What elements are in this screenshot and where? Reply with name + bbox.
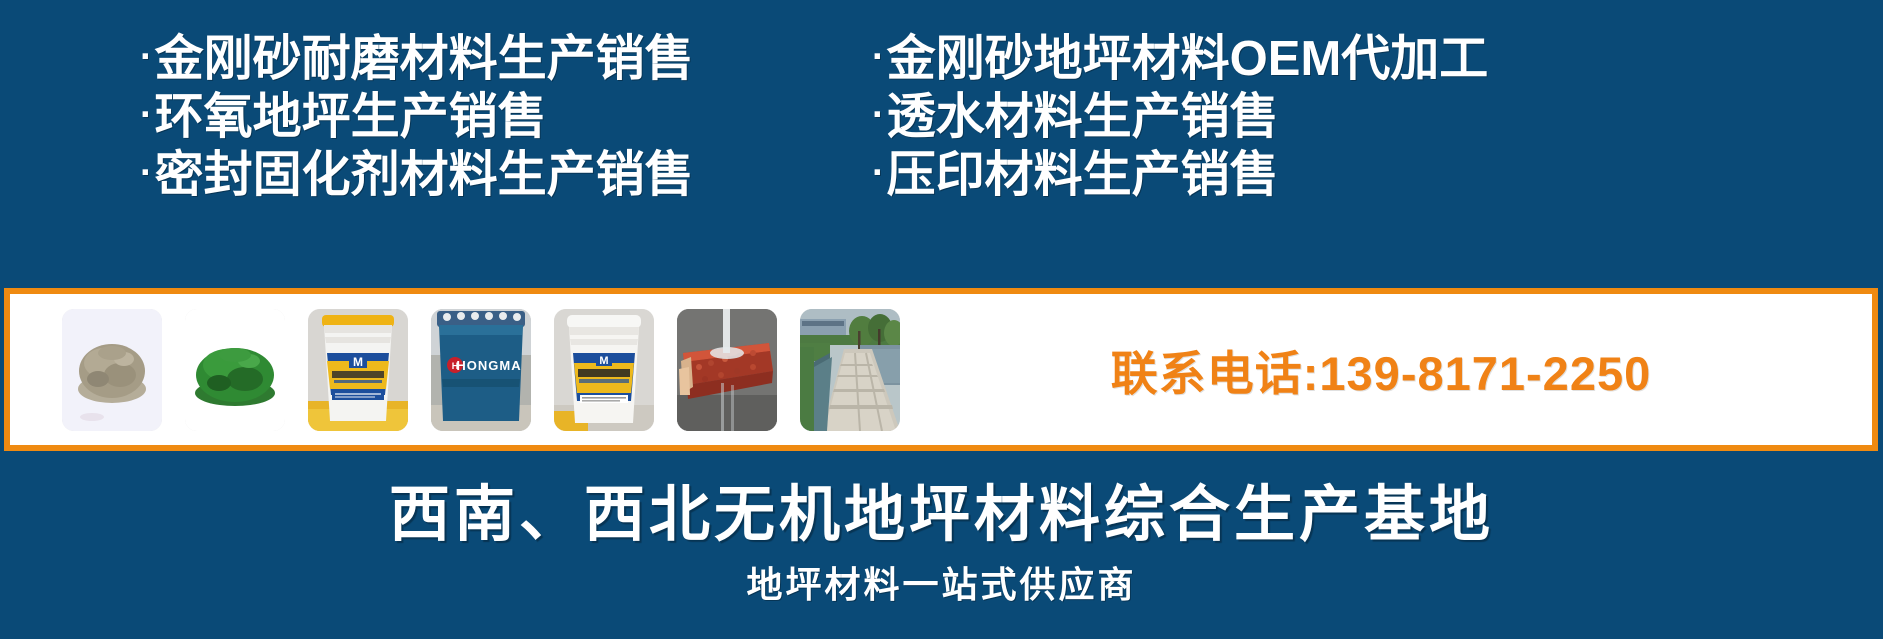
- hongma-drum-icon: H HONGMA: [431, 309, 531, 431]
- footer-headline: 西南、西北无机地坪材料综合生产基地: [0, 464, 1883, 553]
- svg-text:M: M: [599, 355, 608, 367]
- svg-text:M: M: [353, 355, 363, 369]
- service-item: · 透水材料生产销售: [872, 92, 1883, 150]
- stamped-walkway-icon: [800, 309, 900, 431]
- epoxy-pail-icon: M: [554, 309, 654, 431]
- product-thumb-stamped-concrete-walkway[interactable]: [800, 309, 900, 431]
- product-gallery: M: [10, 294, 900, 445]
- service-item: · 金刚砂耐磨材料生产销售: [140, 34, 862, 92]
- service-label: 压印材料生产销售: [887, 150, 1279, 201]
- permeable-slab-icon: [677, 309, 777, 431]
- sealer-pail-icon: M: [308, 309, 408, 431]
- services-section: · 金刚砂耐磨材料生产销售 · 环氧地坪生产销售 · 密封固化剂材料生产销售 ·…: [0, 34, 1883, 234]
- service-label: 金刚砂耐磨材料生产销售: [155, 34, 694, 85]
- green-powder-icon: [185, 309, 285, 431]
- contact-phone-text[interactable]: 联系电话:139-8171-2250: [1111, 335, 1652, 404]
- product-thumb-hongma-blue-drum[interactable]: H HONGMA: [431, 309, 531, 431]
- footer-subheadline: 地坪材料一站式供应商: [0, 556, 1883, 608]
- service-label: 金刚砂地坪材料OEM代加工: [887, 34, 1489, 85]
- services-left-column: · 金刚砂耐磨材料生产销售 · 环氧地坪生产销售 · 密封固化剂材料生产销售: [0, 34, 862, 234]
- gray-powder-icon: [62, 309, 162, 431]
- bullet-icon: ·: [140, 96, 153, 134]
- service-label: 环氧地坪生产销售: [155, 92, 547, 143]
- service-label: 透水材料生产销售: [887, 92, 1279, 143]
- bullet-icon: ·: [872, 38, 885, 76]
- promo-banner: · 金刚砂耐磨材料生产销售 · 环氧地坪生产销售 · 密封固化剂材料生产销售 ·…: [0, 0, 1883, 639]
- product-thumb-green-abrasive-powder[interactable]: [185, 309, 285, 431]
- product-strip: M: [4, 288, 1878, 451]
- bullet-icon: ·: [140, 38, 153, 76]
- services-right-column: · 金刚砂地坪材料OEM代加工 · 透水材料生产销售 · 压印材料生产销售: [862, 34, 1883, 234]
- bullet-icon: ·: [872, 96, 885, 134]
- bullet-icon: ·: [872, 154, 885, 192]
- bullet-icon: ·: [140, 154, 153, 192]
- product-thumb-permeable-concrete-slab[interactable]: [677, 309, 777, 431]
- product-thumb-gray-abrasive-powder[interactable]: [62, 309, 162, 431]
- service-item: · 密封固化剂材料生产销售: [140, 150, 862, 208]
- svg-text:HONGMA: HONGMA: [456, 358, 521, 373]
- service-item: · 环氧地坪生产销售: [140, 92, 862, 150]
- service-item: · 压印材料生产销售: [872, 150, 1883, 208]
- product-thumb-epoxy-floor-coating-pail[interactable]: M: [554, 309, 654, 431]
- product-thumb-concrete-sealer-pail[interactable]: M: [308, 309, 408, 431]
- contact-phone-area: 联系电话:139-8171-2250: [920, 335, 1872, 404]
- service-item: · 金刚砂地坪材料OEM代加工: [872, 34, 1883, 92]
- service-label: 密封固化剂材料生产销售: [155, 150, 694, 201]
